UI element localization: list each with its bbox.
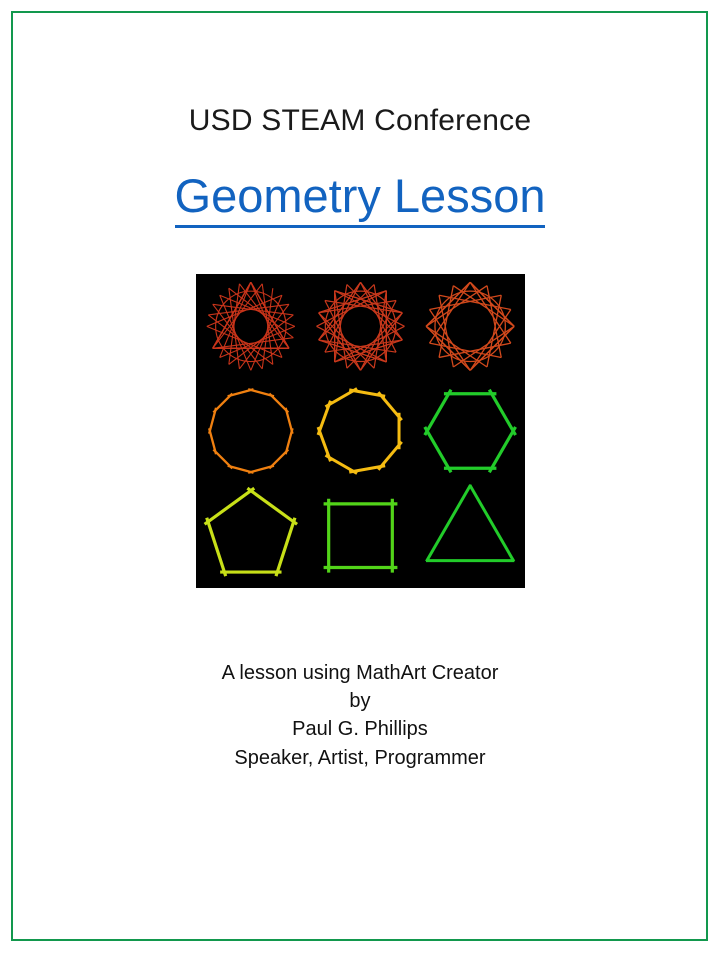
figure-segment (469, 485, 513, 562)
figure-bottom-right (426, 485, 514, 562)
slide-page: USD STEAM Conference Geometry Lesson A l… (0, 0, 720, 960)
figure-inner-circle (215, 291, 285, 361)
slide-content: USD STEAM Conference Geometry Lesson A l… (0, 0, 720, 960)
figure-segment (426, 485, 470, 562)
credits-line-author: Paul G. Phillips (222, 715, 499, 743)
figure-bottom-center (323, 498, 397, 572)
credits-block: A lesson using MathArt Creator by Paul G… (222, 659, 499, 773)
credits-line-by: by (222, 687, 499, 715)
figure-top-right (426, 282, 514, 370)
figure-top-left (206, 282, 294, 370)
figure-segment (489, 427, 515, 472)
page-title: Geometry Lesson (175, 170, 546, 228)
geometry-figures-grid (196, 274, 525, 588)
figure-segment (470, 326, 514, 370)
figure-segment (204, 488, 254, 524)
figure-segment (325, 388, 357, 406)
figure-middle-left (209, 389, 292, 472)
figure-segment (426, 282, 470, 326)
credits-line-roles: Speaker, Artist, Programmer (222, 744, 499, 772)
figure-segment (206, 517, 225, 575)
figure-segment (424, 389, 450, 434)
figure-middle-center (318, 388, 402, 473)
figure-segment (426, 326, 470, 370)
credits-line-tool: A lesson using MathArt Creator (222, 659, 499, 687)
figure-middle-right (424, 389, 515, 472)
figure-segment (227, 389, 253, 396)
artwork-panel (196, 274, 525, 588)
figure-segment (247, 488, 297, 524)
figure-segment (424, 427, 450, 472)
figure-inner-circle (325, 291, 395, 361)
figure-segment (470, 282, 514, 326)
conference-name: USD STEAM Conference (189, 104, 531, 137)
figure-bottom-left (204, 488, 296, 576)
figure-segment (489, 389, 515, 434)
figure-top-center (316, 282, 404, 370)
figure-segment (275, 517, 294, 575)
